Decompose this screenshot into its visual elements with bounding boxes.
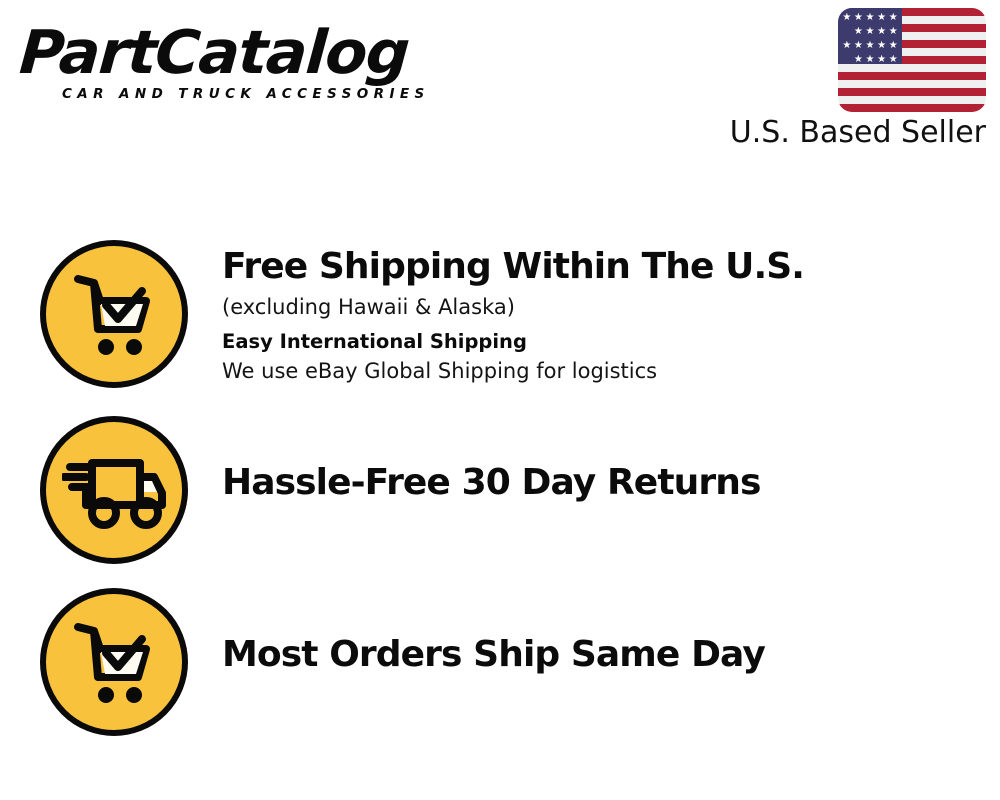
feature-text: Most Orders Ship Same Day (222, 588, 765, 676)
us-based-seller-label: U.S. Based Seller (716, 115, 986, 151)
feature-row: Most Orders Ship Same Day (40, 588, 980, 736)
shopping-cart-check-icon (40, 240, 188, 388)
feature-row: Free Shipping Within The U.S. (excluding… (40, 240, 980, 388)
delivery-truck-icon (40, 416, 188, 564)
flag-star: ★ (877, 41, 886, 50)
brand-tagline: CAR AND TRUCK ACCESSORIES (62, 86, 492, 102)
flag-star: ★ (877, 27, 886, 36)
flag-star: ★ (866, 27, 875, 36)
flag-star: ★ (889, 41, 898, 50)
flag-star: ★ (877, 13, 886, 22)
flag-star: ★ (854, 55, 863, 64)
flag-star-row: ★ ★ ★ ★ ★ (838, 41, 902, 50)
feature-row: Hassle-Free 30 Day Returns (40, 416, 980, 564)
flag-star: ★ (889, 27, 898, 36)
flag-star: ★ (842, 41, 851, 50)
flag-star: ★ (889, 13, 898, 22)
shopping-cart-check-icon (40, 588, 188, 736)
flag-star: ★ (866, 55, 875, 64)
feature-title: Most Orders Ship Same Day (222, 634, 765, 676)
feature-text: Hassle-Free 30 Day Returns (222, 416, 760, 504)
feature-text: Free Shipping Within The U.S. (excluding… (222, 240, 804, 386)
feature-subtitle: (excluding Hawaii & Alaska) (222, 292, 804, 322)
us-flag-icon: ★ ★ ★ ★ ★ ★ ★ ★ ★ ★ ★ ★ ★ ★ (838, 8, 986, 112)
flag-canton: ★ ★ ★ ★ ★ ★ ★ ★ ★ ★ ★ ★ ★ ★ (838, 8, 902, 64)
brand-logo: PartCatalog CAR AND TRUCK ACCESSORIES (22, 22, 492, 122)
flag-star-row: ★ ★ ★ ★ ★ (838, 27, 902, 36)
flag-star: ★ (877, 55, 886, 64)
flag-star: ★ (866, 41, 875, 50)
flag-star: ★ (866, 13, 875, 22)
flag-star-row: ★ ★ ★ ★ ★ (838, 13, 902, 22)
feature-sub-note: We use eBay Global Shipping for logistic… (222, 356, 804, 386)
brand-wordmark: PartCatalog (18, 22, 502, 84)
flag-star: ★ (854, 27, 863, 36)
flag-star: ★ (854, 13, 863, 22)
flag-star: ★ (842, 13, 851, 22)
flag-star: ★ (889, 55, 898, 64)
feature-title: Hassle-Free 30 Day Returns (222, 462, 760, 504)
flag-star: ★ (854, 41, 863, 50)
promo-banner: PartCatalog CAR AND TRUCK ACCESSORIES ★ … (0, 0, 1000, 800)
feature-title: Free Shipping Within The U.S. (222, 246, 804, 288)
flag-star-row: ★ ★ ★ ★ ★ (838, 55, 902, 64)
us-based-seller-badge: ★ ★ ★ ★ ★ ★ ★ ★ ★ ★ ★ ★ ★ ★ (716, 8, 986, 151)
feature-sub-heading: Easy International Shipping (222, 328, 804, 356)
